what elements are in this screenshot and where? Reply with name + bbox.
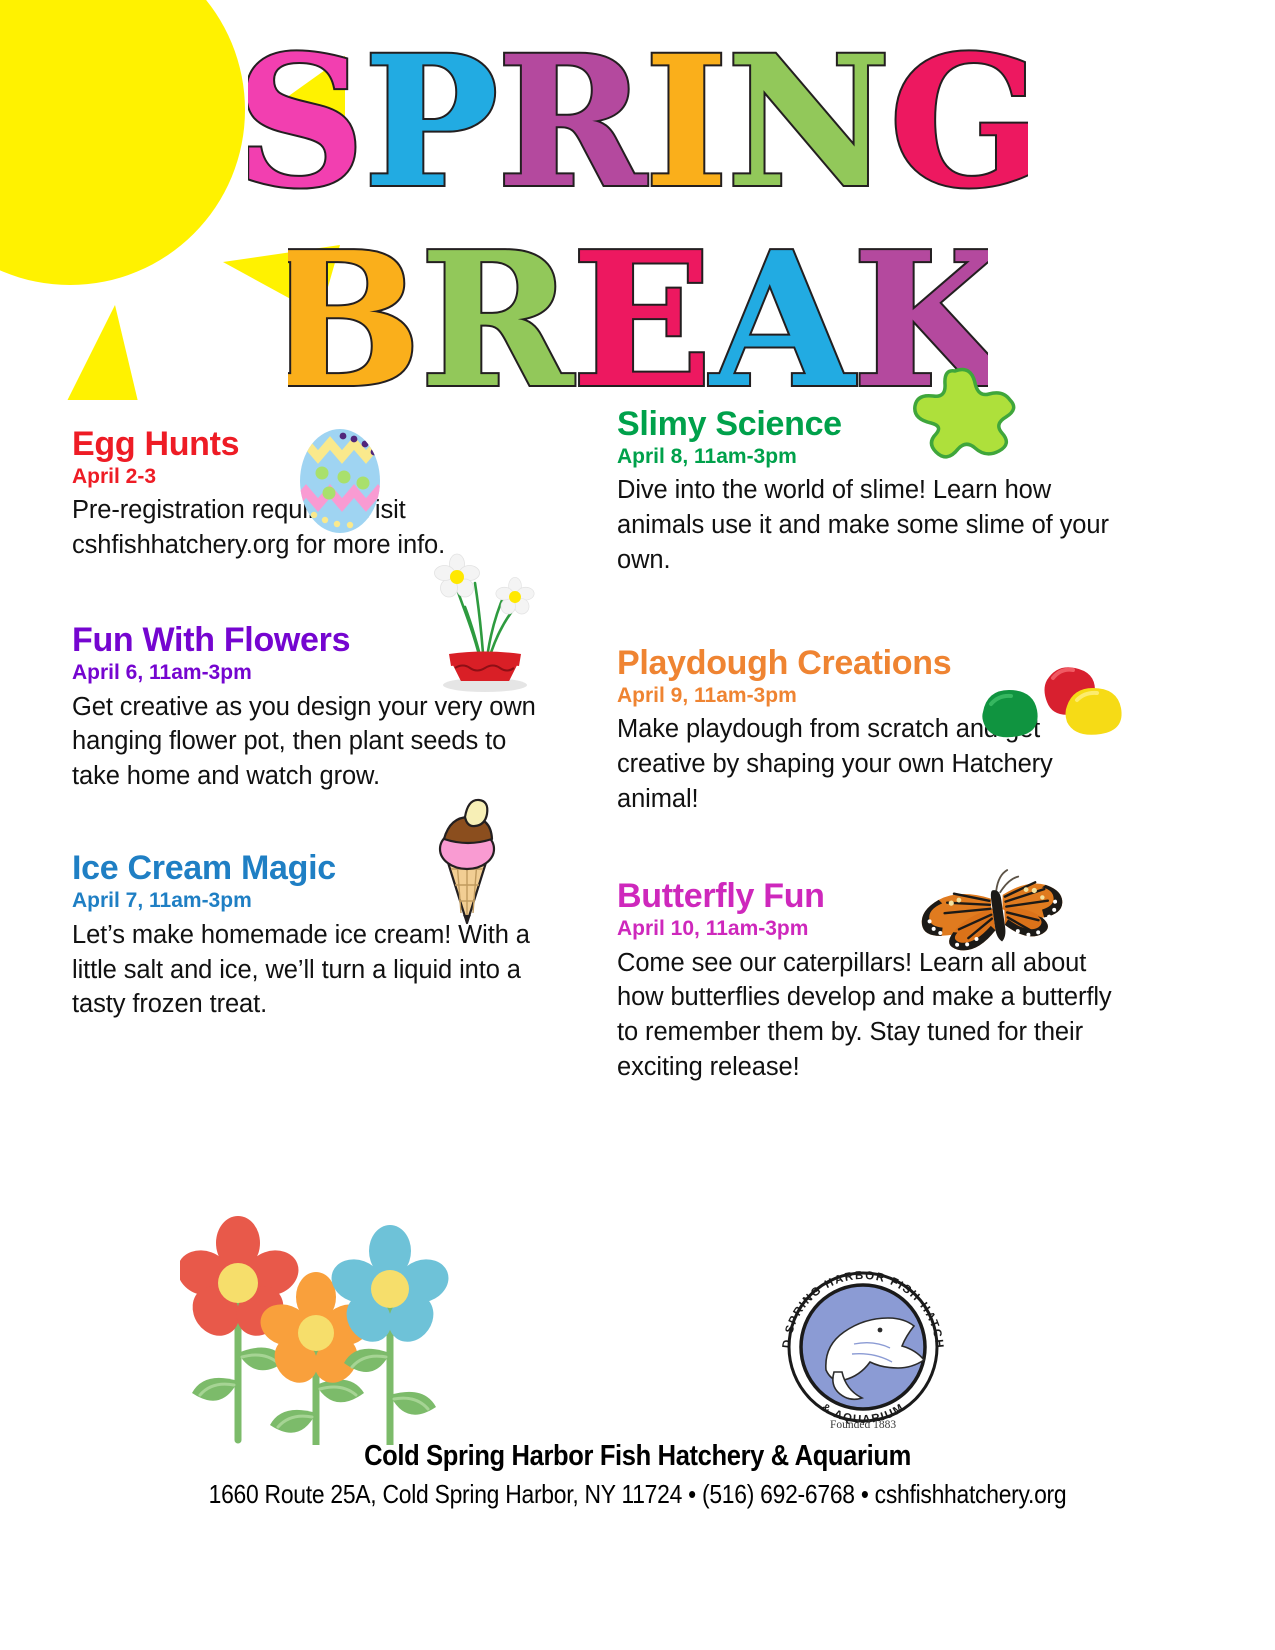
event-title: Butterfly Fun <box>617 877 1147 915</box>
event-description: Get creative as you design your very own… <box>72 690 552 795</box>
event-egg-hunts: Egg Hunts April 2-3 Pre-registration req… <box>72 425 592 563</box>
title-line-break: BREAK <box>0 225 1275 425</box>
title-line-spring: SPRING <box>0 30 1275 225</box>
footer: Cold Spring Harbor Fish Hatchery & Aquar… <box>0 1440 1275 1510</box>
footer-address-line: 1660 Route 25A, Cold Spring Harbor, NY 1… <box>77 1479 1199 1510</box>
event-date: April 6, 11am-3pm <box>72 660 592 686</box>
footer-organization-name: Cold Spring Harbor Fish Hatchery & Aquar… <box>77 1440 1199 1473</box>
event-fun-with-flowers: Fun With Flowers April 6, 11am-3pm Get c… <box>72 621 592 794</box>
events-column-right: Slimy Science April 8, 11am-3pm Dive int… <box>617 405 1147 1111</box>
three-flowers-decoration <box>180 1185 480 1450</box>
events-column-left: Egg Hunts April 2-3 Pre-registration req… <box>72 425 592 1048</box>
event-description: Let’s make homemade ice cream! With a li… <box>72 918 577 1023</box>
event-slimy-science: Slimy Science April 8, 11am-3pm Dive int… <box>617 405 1147 578</box>
event-title: Egg Hunts <box>72 425 592 463</box>
event-description: Come see our caterpillars! Learn all abo… <box>617 946 1137 1086</box>
event-title: Playdough Creations <box>617 644 1147 682</box>
svg-text:Founded 1883: Founded 1883 <box>830 1419 896 1431</box>
event-date: April 2-3 <box>72 464 592 490</box>
event-date: April 9, 11am-3pm <box>617 683 1147 709</box>
event-date: April 10, 11am-3pm <box>617 916 1147 942</box>
svg-text:BREAK: BREAK <box>288 225 988 425</box>
event-description: Make playdough from scratch and get crea… <box>617 712 1117 817</box>
cshh-seal-logo: COLD SPRING HARBOR FISH HATCHERY & AQUAR… <box>768 1252 958 1447</box>
event-title: Slimy Science <box>617 405 1147 443</box>
event-ice-cream-magic: Ice Cream Magic April 7, 11am-3pm Let’s … <box>72 849 592 1022</box>
event-date: April 8, 11am-3pm <box>617 444 1147 470</box>
event-playdough-creations: Playdough Creations April 9, 11am-3pm Ma… <box>617 644 1147 817</box>
event-title: Fun With Flowers <box>72 621 592 659</box>
event-title: Ice Cream Magic <box>72 849 592 887</box>
event-butterfly-fun: Butterfly Fun April 10, 11am-3pm Come se… <box>617 877 1147 1085</box>
event-date: April 7, 11am-3pm <box>72 888 592 914</box>
event-description: Dive into the world of slime! Learn how … <box>617 473 1137 578</box>
svg-text:SPRING: SPRING <box>248 30 1028 225</box>
page-title: SPRING BREAK <box>0 30 1275 425</box>
event-description: Pre-registration required. Visit cshfish… <box>72 493 542 563</box>
